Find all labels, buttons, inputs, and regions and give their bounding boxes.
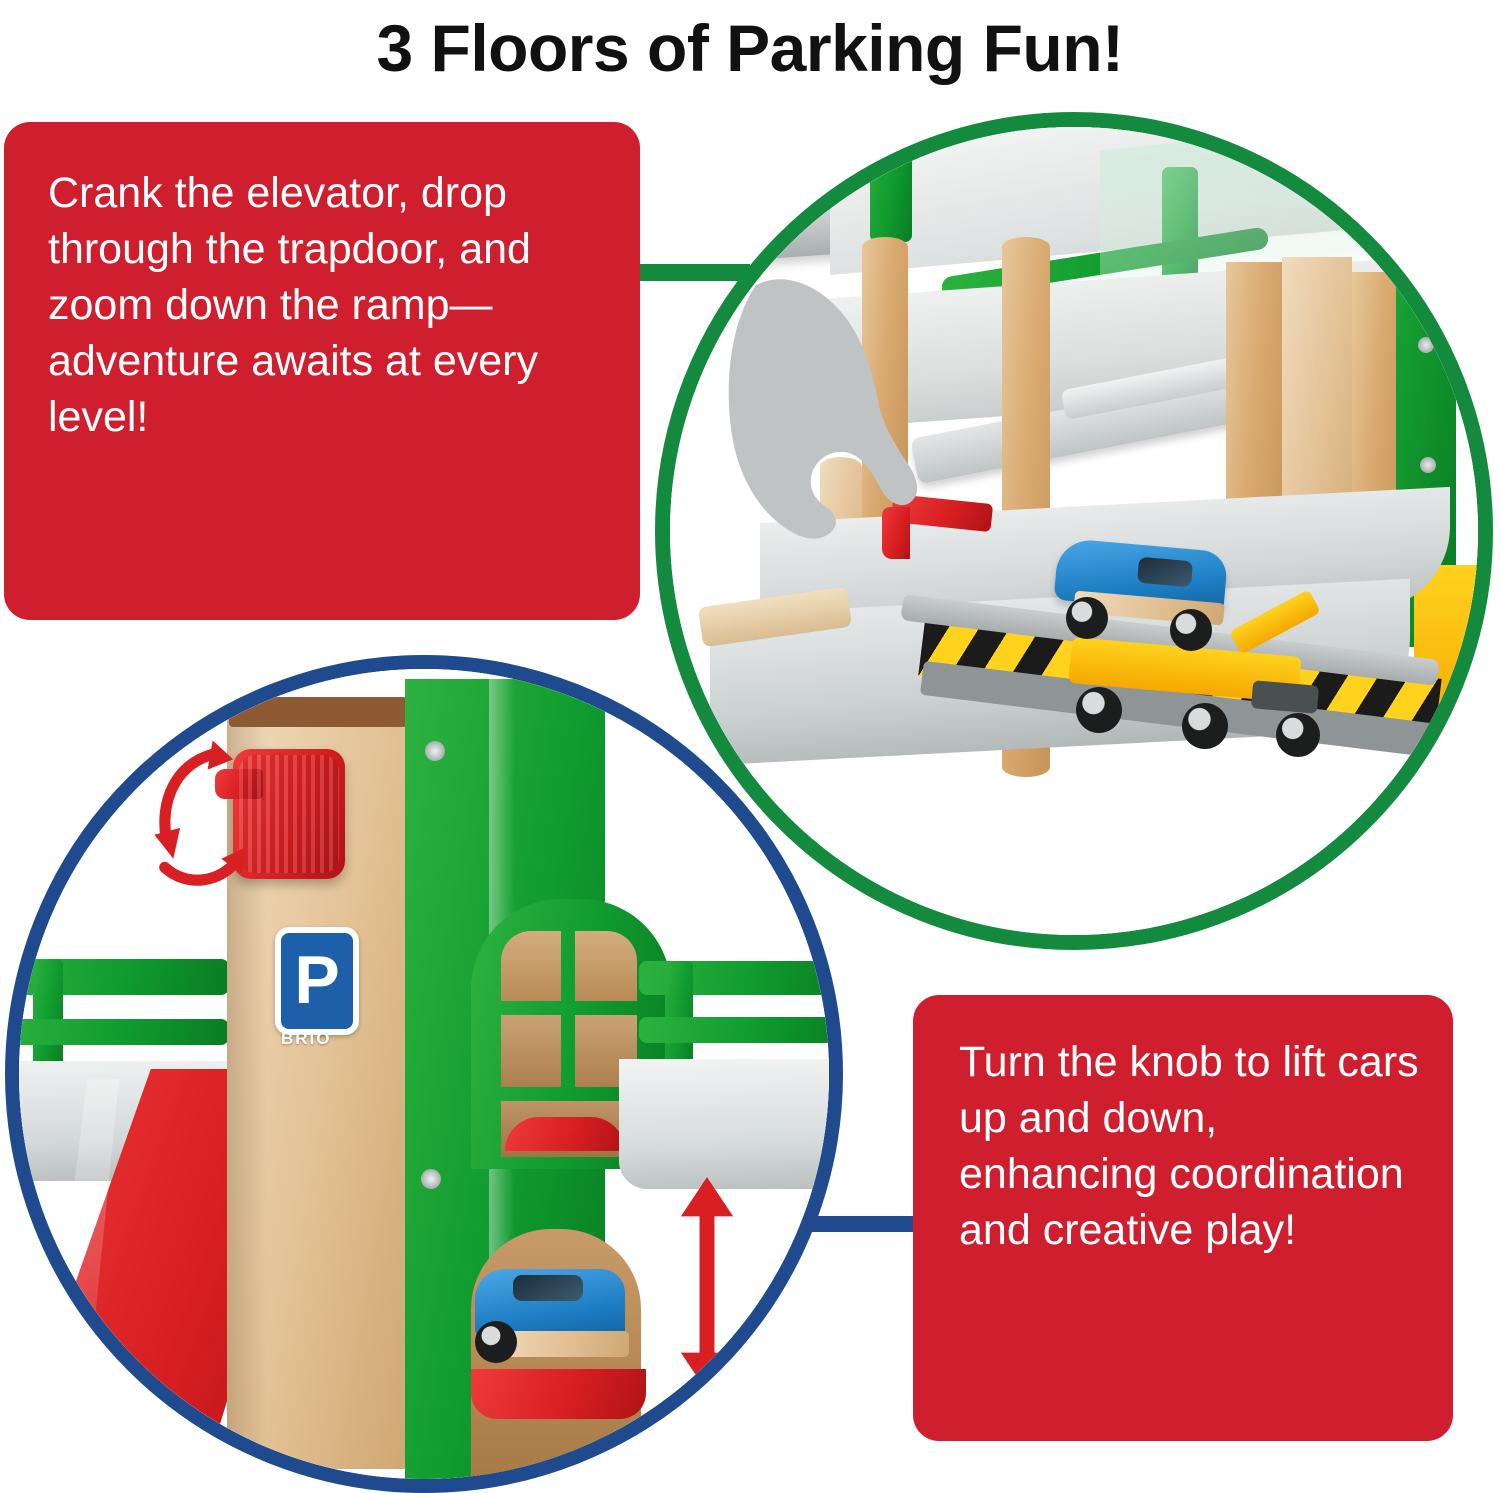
tower-screw-1	[425, 741, 445, 761]
screw-head-2	[1420, 457, 1436, 473]
truck-wheel-2	[1182, 703, 1228, 749]
window-opening-2	[575, 931, 637, 1001]
marketing-image-canvas: 3 Floors of Parking Fun!	[0, 0, 1500, 1485]
knob-callout: Turn the knob to lift cars up and down, …	[913, 995, 1453, 1441]
tow-truck-hitch	[1251, 680, 1319, 714]
right-green-rail-2	[639, 1017, 829, 1043]
window-opening-3	[501, 1015, 561, 1087]
window-opening-1	[501, 931, 561, 1001]
left-green-rail-2	[19, 1019, 229, 1045]
car-wheel-2	[1170, 609, 1212, 651]
knob-callout-text: Turn the knob to lift cars up and down, …	[959, 1035, 1423, 1259]
page-title: 3 Floors of Parking Fun!	[0, 4, 1500, 92]
up-down-arrow-icon	[679, 1177, 735, 1392]
hand-silhouette-icon	[722, 277, 942, 567]
right-grey-deck	[619, 1059, 829, 1189]
truck-wheel-3	[1276, 713, 1320, 757]
p-sign-letter: P	[281, 933, 353, 1027]
brio-wordmark: BRIO	[281, 1029, 332, 1049]
rotation-arrow-icon	[139, 737, 259, 912]
left-green-post	[33, 959, 63, 1069]
green-post-1	[870, 127, 912, 242]
window-red-ramp-piece	[505, 1117, 625, 1151]
elevator-callout-text: Crank the elevator, drop through the tra…	[48, 166, 594, 445]
elevator-red-platform	[471, 1369, 646, 1419]
screw-head-1	[1418, 337, 1434, 353]
blue-car-window	[1137, 557, 1193, 588]
tower-screw-2	[421, 1169, 441, 1189]
car-wheel-1	[1066, 597, 1108, 639]
elevator-callout: Crank the elevator, drop through the tra…	[4, 122, 640, 620]
elevator-car-window	[513, 1275, 583, 1301]
right-green-post	[665, 961, 693, 1069]
knob-elevator-photo: P BRIO	[5, 655, 843, 1493]
column-top-cap	[229, 697, 407, 727]
knob-elevator-scene: P BRIO	[19, 669, 829, 1479]
elevator-car-wheel	[475, 1321, 517, 1363]
truck-wheel-1	[1076, 687, 1122, 733]
parking-p-sign: P	[275, 927, 359, 1035]
